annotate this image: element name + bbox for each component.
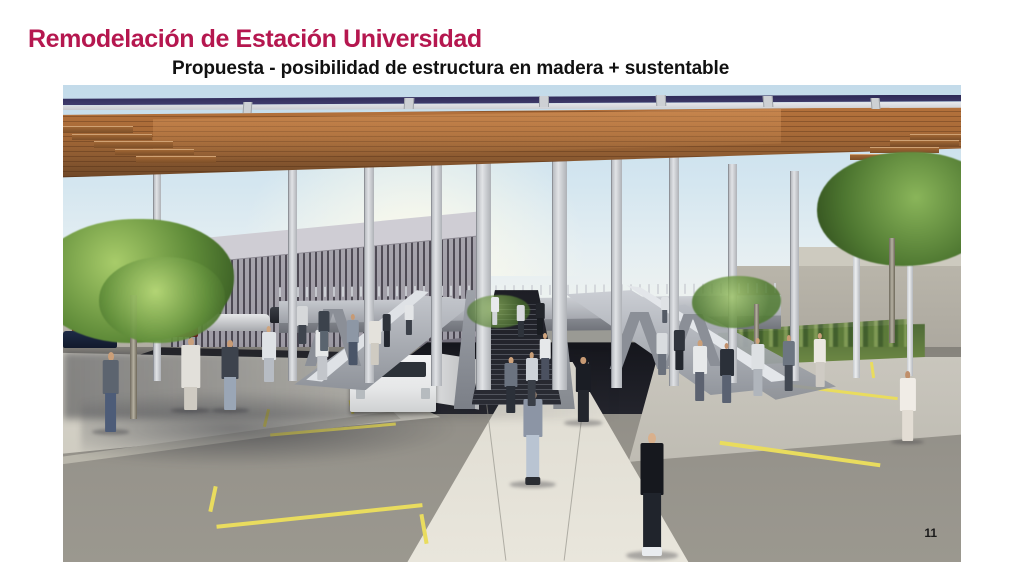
pedestrian — [318, 307, 331, 352]
bus-taillight-right — [421, 388, 430, 399]
pedestrian — [692, 340, 708, 402]
pedestrian — [750, 338, 765, 398]
pedestrian — [296, 302, 308, 345]
pedestrian — [660, 295, 669, 324]
render-canvas: 11 — [63, 85, 961, 562]
pedestrian — [813, 333, 827, 388]
page-title: Remodelación de Estación Universidad — [28, 25, 482, 54]
pedestrian — [539, 333, 552, 381]
pedestrian — [101, 352, 121, 433]
pedestrian — [781, 335, 795, 392]
roof-beam — [539, 96, 549, 107]
pedestrian — [719, 343, 735, 405]
pedestrian — [674, 326, 686, 371]
pedestrian — [898, 371, 917, 443]
pedestrian — [656, 328, 669, 376]
page-number: 11 — [924, 526, 937, 540]
roof-beam — [242, 102, 252, 113]
architectural-rendering-image: 11 — [63, 85, 961, 562]
roof-step-cantilever-left — [63, 106, 359, 168]
pedestrian — [503, 357, 518, 414]
pedestrian — [180, 338, 202, 412]
pedestrian — [220, 340, 240, 412]
tree-trunk — [889, 238, 894, 343]
roof-beam — [655, 95, 666, 106]
pedestrian — [525, 352, 539, 407]
roof-beam — [404, 98, 415, 109]
page-subtitle: Propuesta - posibilidad de estructura en… — [172, 58, 729, 80]
pedestrian — [575, 357, 592, 424]
roof-beam — [763, 96, 773, 107]
pedestrian — [368, 316, 381, 366]
pedestrian — [535, 300, 545, 336]
tree-canopy — [99, 257, 225, 343]
pedestrian — [261, 326, 277, 383]
pedestrian — [404, 302, 414, 335]
pedestrian — [638, 433, 667, 557]
pedestrian — [382, 312, 392, 348]
pedestrian — [516, 302, 526, 338]
pedestrian — [490, 295, 499, 326]
roof-beam — [871, 98, 881, 109]
pedestrian — [346, 314, 360, 366]
